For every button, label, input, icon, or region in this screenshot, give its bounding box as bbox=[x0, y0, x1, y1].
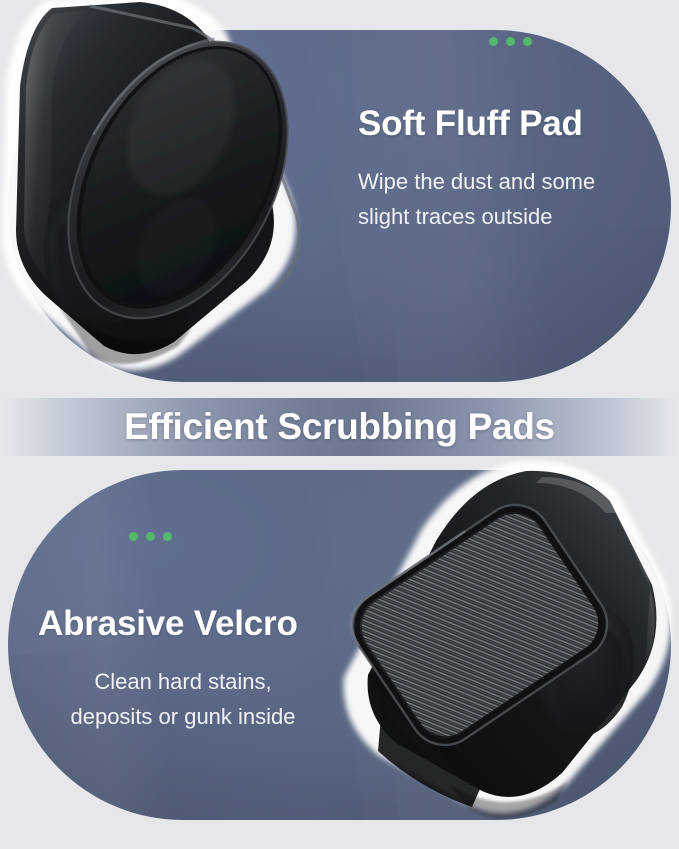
description-wrapper-abrasive-velcro: Clean hard stains, deposits or gunk insi… bbox=[38, 665, 328, 735]
accent-dot-icon bbox=[146, 532, 155, 541]
description-line-1-abrasive-velcro: Clean hard stains, bbox=[38, 665, 328, 700]
accent-dots-top bbox=[489, 37, 532, 46]
panel-shadow-wedge-right bbox=[326, 666, 671, 820]
infographic-canvas: Soft Fluff Pad Wipe the dust and some sl… bbox=[0, 0, 679, 849]
feature-text-soft-fluff-pad: Soft Fluff Pad Wipe the dust and some sl… bbox=[358, 104, 595, 235]
accent-dot-icon bbox=[506, 37, 515, 46]
section-banner: Efficient Scrubbing Pads bbox=[0, 398, 679, 456]
headline-soft-fluff-pad: Soft Fluff Pad bbox=[358, 104, 595, 143]
description-line-2-abrasive-velcro: deposits or gunk inside bbox=[38, 700, 328, 735]
headline-abrasive-velcro: Abrasive Velcro bbox=[38, 604, 328, 643]
accent-dots-bottom bbox=[129, 532, 172, 541]
panel-shadow-wedge-left bbox=[8, 178, 404, 382]
feature-text-abrasive-velcro: Abrasive Velcro Clean hard stains, depos… bbox=[38, 604, 328, 735]
accent-dot-icon bbox=[523, 37, 532, 46]
banner-title: Efficient Scrubbing Pads bbox=[124, 406, 555, 448]
accent-dot-icon bbox=[163, 532, 172, 541]
accent-dot-icon bbox=[489, 37, 498, 46]
accent-dot-icon bbox=[129, 532, 138, 541]
description-line-1-soft-fluff-pad: Wipe the dust and some bbox=[358, 165, 595, 200]
description-line-2-soft-fluff-pad: slight traces outside bbox=[358, 200, 595, 235]
panel-shadow-wedge-right bbox=[326, 227, 671, 382]
